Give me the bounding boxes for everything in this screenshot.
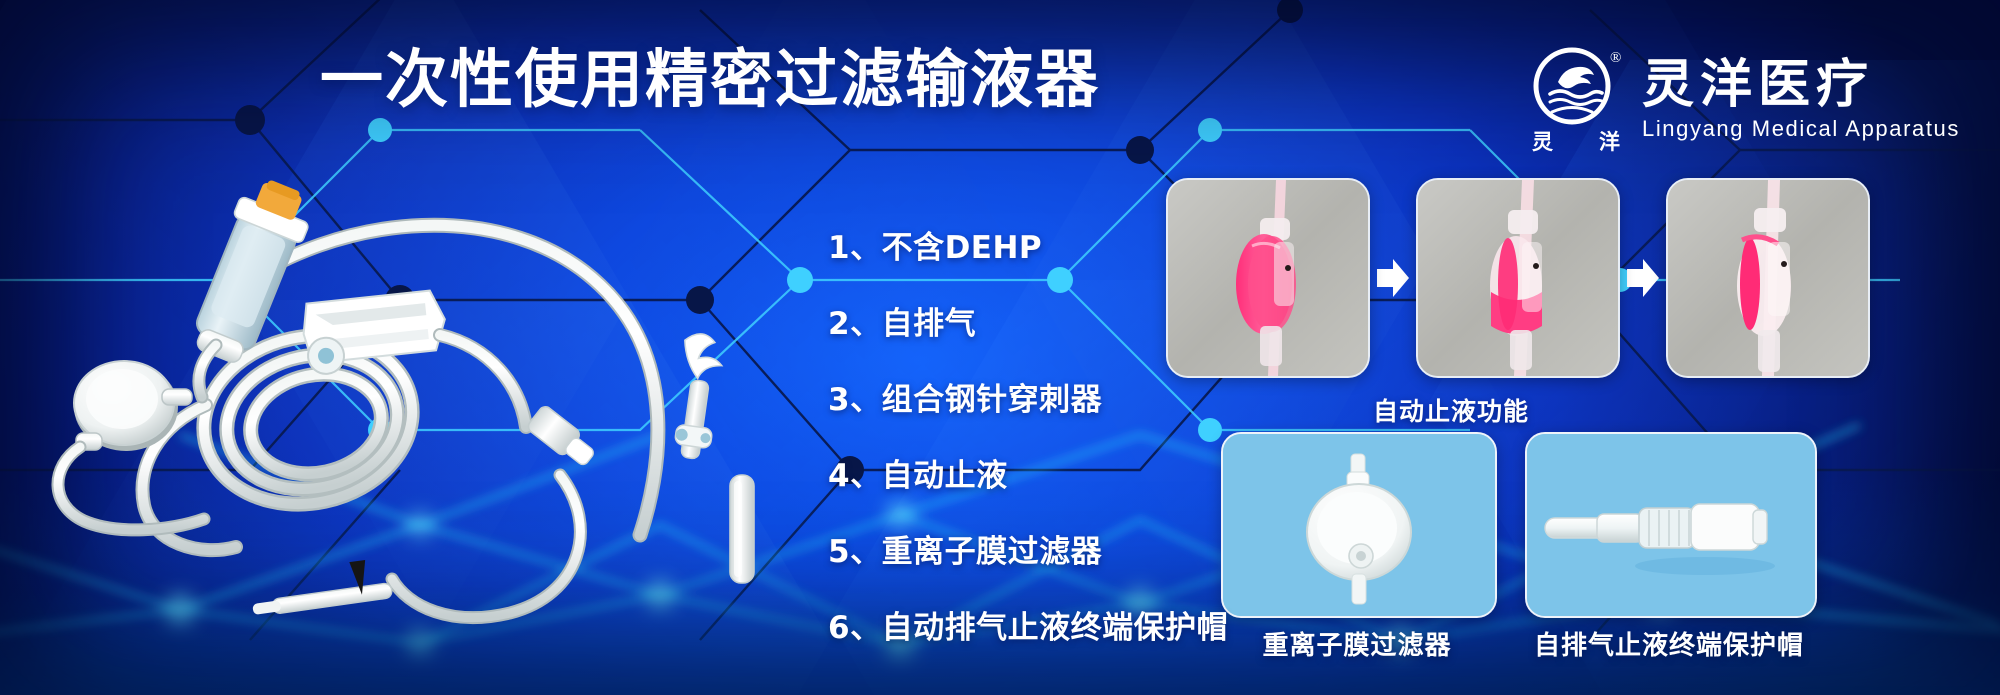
brand-mark-subtext: 灵 洋	[1528, 126, 1624, 156]
caption-heavy-ion-membrane-filter: 重离子膜过滤器	[1221, 625, 1493, 662]
right-arrow-icon-2	[1620, 257, 1666, 299]
feature-item-4: 4、自动止液	[828, 450, 1228, 495]
feature-item-6: 6、自动排气止液终端保护帽	[828, 602, 1228, 647]
feature-list: 1、不含DEHP 2、自排气 3、组合钢针穿刺器 4、自动止液 5、重离子膜过滤…	[828, 222, 1228, 647]
caption-auto-stop-function: 自动止液功能	[1166, 392, 1736, 428]
brand-mark-right-char: 洋	[1599, 126, 1620, 156]
svg-text:®: ®	[1610, 50, 1621, 66]
product-banner: 一次性使用精密过滤输液器 ® 灵 洋 灵洋医疗 Lingyang Medical…	[0, 0, 2000, 695]
step-photo-drip-chamber-half[interactable]	[1416, 178, 1620, 378]
right-arrow-icon	[1370, 257, 1416, 299]
brand-text-block: 灵洋医疗 Lingyang Medical Apparatus	[1642, 58, 1960, 143]
step-photo-drip-chamber-stopped[interactable]	[1666, 178, 1870, 378]
brand-logo: ® 灵 洋 灵洋医疗 Lingyang Medical Apparatus	[1528, 46, 1960, 154]
feature-item-5: 5、重离子膜过滤器	[828, 526, 1228, 571]
product-photo-infusion-set	[40, 175, 800, 645]
feature-item-2: 2、自排气	[828, 298, 1228, 343]
auto-stop-step-gallery	[1166, 178, 1870, 378]
feature-item-3: 3、组合钢针穿刺器	[828, 374, 1228, 419]
brand-name-en: Lingyang Medical Apparatus	[1642, 116, 1960, 142]
caption-terminal-protective-cap: 自排气止液终端保护帽	[1505, 625, 1833, 662]
panel-photo-heavy-ion-membrane-filter[interactable]	[1221, 432, 1497, 618]
feature-item-1: 1、不含DEHP	[828, 222, 1228, 267]
brand-name-cn: 灵洋医疗	[1642, 58, 1960, 113]
brand-mark-left-char: 灵	[1532, 126, 1553, 156]
panel-photo-terminal-protective-cap[interactable]	[1525, 432, 1817, 618]
page-title: 一次性使用精密过滤输液器	[320, 48, 1100, 111]
lingyang-wave-emblem-icon: ® 灵 洋	[1528, 46, 1624, 154]
